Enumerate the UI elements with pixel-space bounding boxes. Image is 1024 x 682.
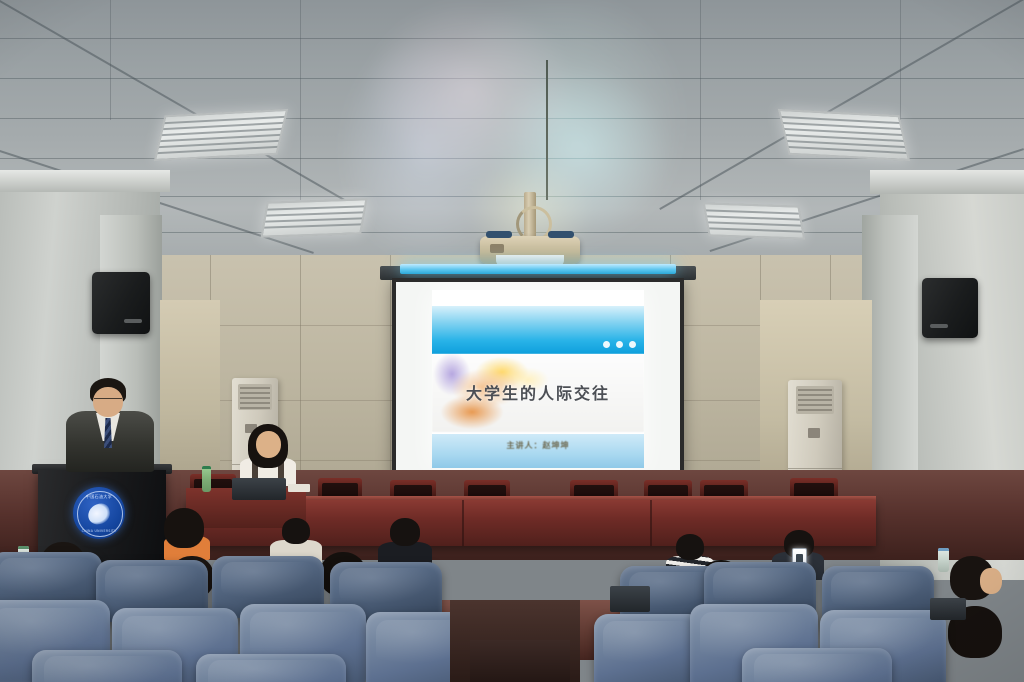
seated-host bbox=[238, 424, 298, 486]
slide-header-band bbox=[432, 306, 644, 354]
laptop bbox=[232, 478, 286, 500]
speaker-right bbox=[922, 278, 978, 338]
aisle-floor bbox=[470, 640, 570, 682]
emblem-bottom-text: CHINA UNIVERSITY bbox=[73, 529, 125, 533]
laptop bbox=[930, 598, 966, 620]
slide-title: 大学生的人际交往 bbox=[432, 380, 644, 404]
speaker-left bbox=[92, 272, 150, 334]
slide-subtitle: 主讲人：赵坤坤 bbox=[432, 440, 644, 451]
ceiling-light-panel bbox=[778, 109, 910, 161]
projector-cable bbox=[546, 60, 548, 200]
presenter-at-podium bbox=[62, 378, 158, 472]
auditorium-seat bbox=[32, 650, 182, 682]
screen-light-strip bbox=[400, 264, 676, 274]
presentation-slide: 大学生的人际交往 主讲人：赵坤坤 bbox=[432, 290, 644, 468]
ceiling-light-panel bbox=[260, 198, 367, 237]
auditorium-seat bbox=[594, 614, 702, 682]
left-ceiling-edge bbox=[0, 170, 170, 192]
ceiling-light-panel bbox=[154, 109, 288, 161]
auditorium-seat bbox=[742, 648, 892, 682]
laptop bbox=[610, 586, 650, 612]
right-ceiling-edge bbox=[870, 170, 1024, 194]
back-wall-left-panel bbox=[160, 300, 220, 490]
water-bottle bbox=[938, 548, 949, 572]
audience-member bbox=[160, 508, 208, 550]
slide-footer-band: 主讲人：赵坤坤 bbox=[432, 434, 644, 468]
auditorium-seat bbox=[196, 654, 346, 682]
projection-screen: 大学生的人际交往 主讲人：赵坤坤 bbox=[392, 278, 684, 478]
emblem-top-text: 中国石油大学 bbox=[73, 494, 125, 500]
projector-vent bbox=[490, 244, 504, 253]
water-bottle bbox=[202, 466, 211, 492]
papers bbox=[288, 484, 310, 492]
university-emblem: 中国石油大学 CHINA UNIVERSITY bbox=[73, 487, 125, 539]
lecture-hall-photo: 大学生的人际交往 主讲人：赵坤坤 中国石油大学 CHINA UNIVERSITY bbox=[0, 0, 1024, 682]
ceiling-light-panel bbox=[703, 202, 806, 239]
